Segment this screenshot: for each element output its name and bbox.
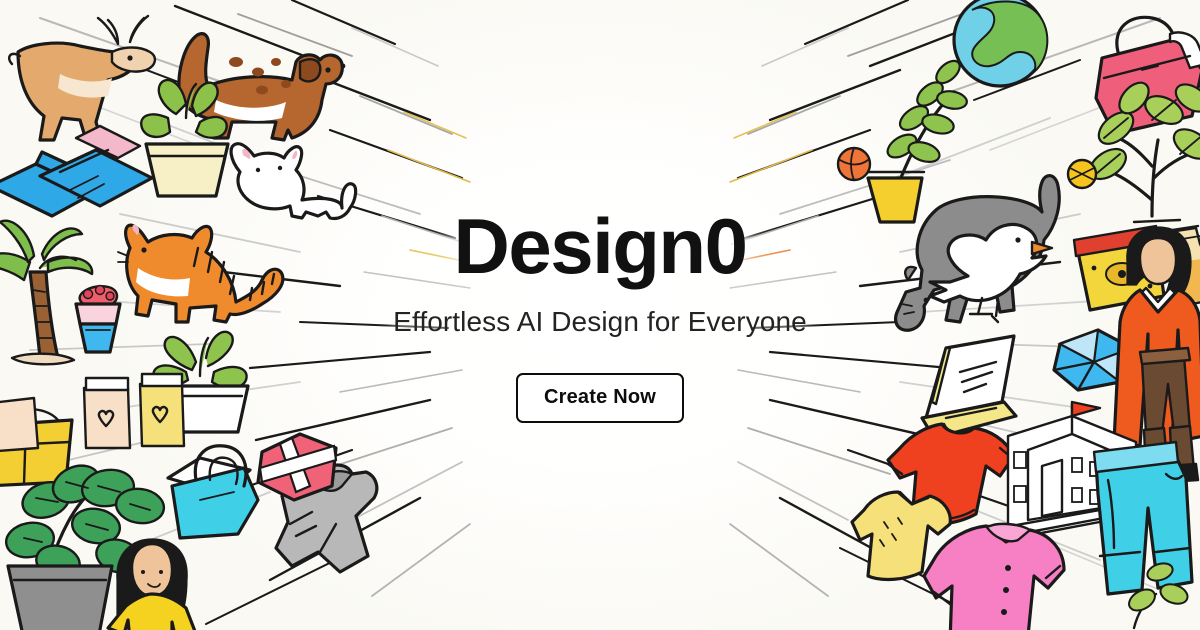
- doodle-cream-block: [0, 398, 38, 452]
- doodle-laptop: [922, 336, 1016, 438]
- doodle-globe-earth: [954, 0, 1047, 86]
- doodle-potted-plant-cream: [141, 80, 228, 196]
- doodle-pink-shirt: [924, 524, 1064, 630]
- doodle-yellow-ball: [1068, 160, 1096, 188]
- doodle-jam-jars: [84, 374, 184, 448]
- page-title: Design0: [454, 207, 747, 285]
- doodle-potted-plant-yellow-pot: [866, 57, 968, 222]
- create-now-button[interactable]: Create Now: [516, 373, 684, 423]
- doodle-orange-ball: [838, 148, 870, 180]
- doodle-blue-suitcase: [0, 126, 152, 216]
- doodle-blue-jeans: [1094, 442, 1192, 594]
- doodle-palm-tree: [0, 221, 92, 365]
- doodle-pink-gift-box: [258, 434, 336, 500]
- doodle-white-cat: [231, 144, 356, 219]
- doodle-berry-smoothie-cup: [76, 286, 120, 353]
- page-subtitle: Effortless AI Design for Everyone: [393, 305, 807, 339]
- hero-banner: .o{fill:none;stroke:#1a1a1a;stroke-width…: [0, 0, 1200, 630]
- doodle-orange-tabby-cat: [118, 225, 283, 322]
- doodle-deer: [9, 16, 155, 140]
- doodle-cyan-duffel-bag: [168, 446, 258, 538]
